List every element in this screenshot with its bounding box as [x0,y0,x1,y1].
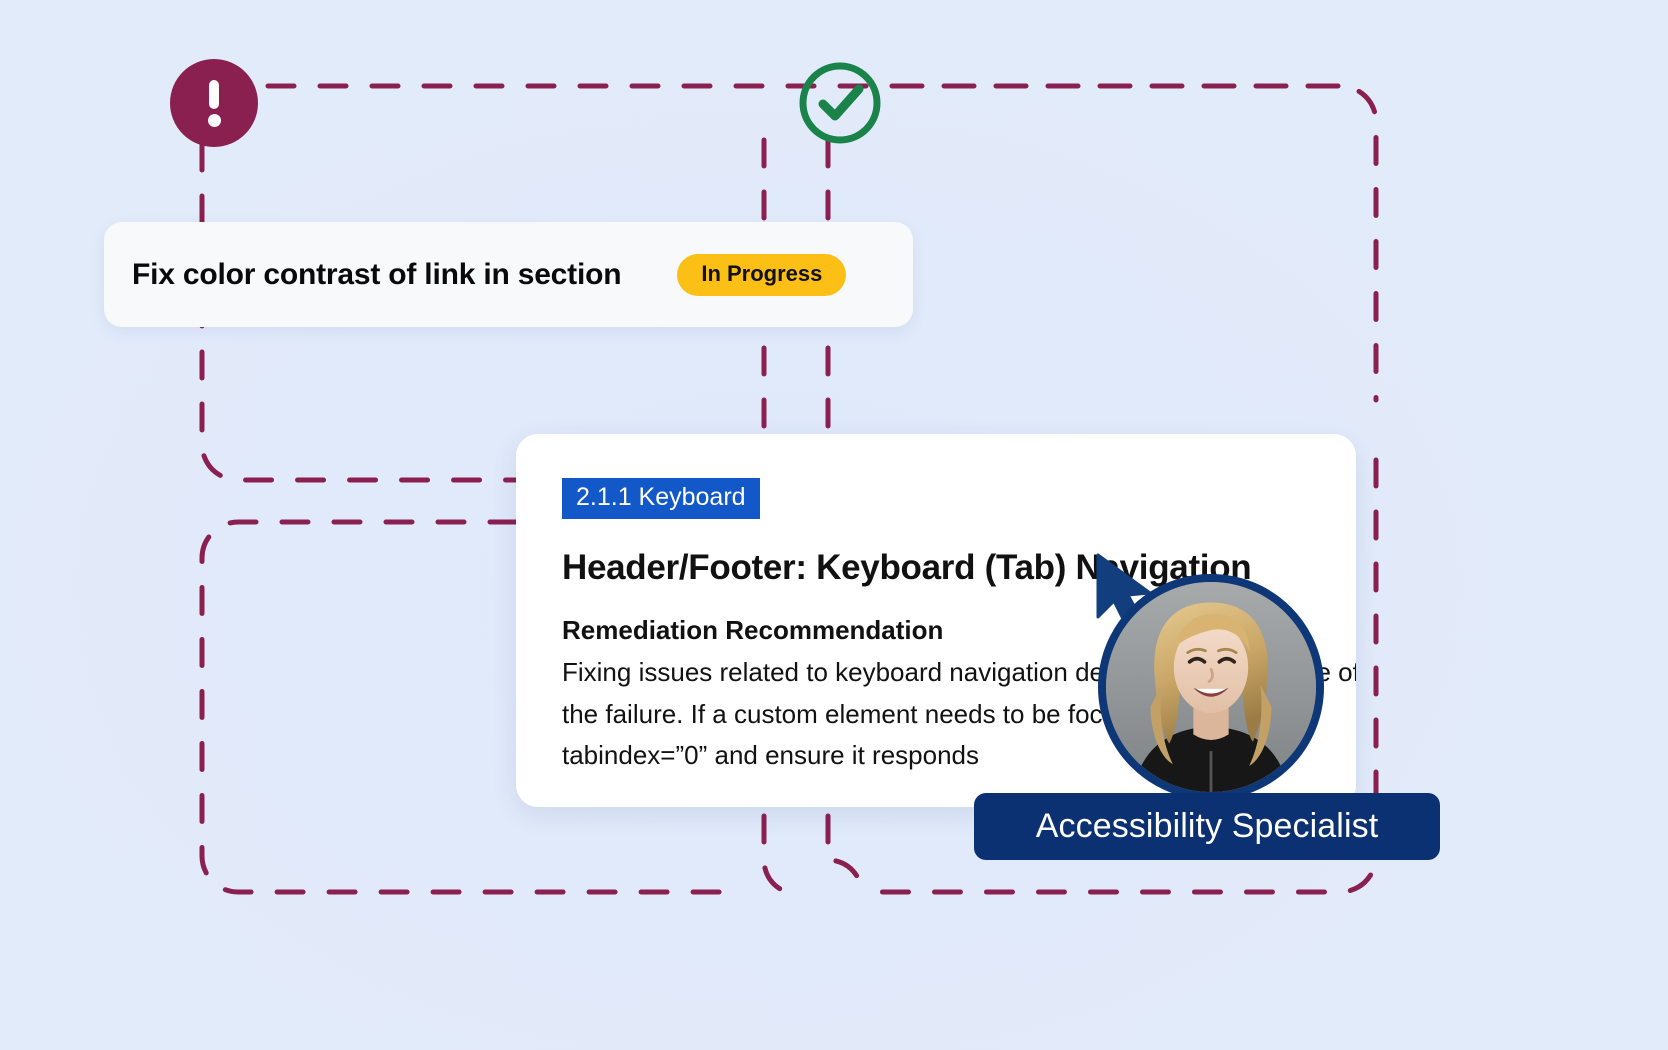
task-card[interactable]: Fix color contrast of link in section In… [104,222,913,327]
canvas: Fix color contrast of link in section In… [0,0,1668,1050]
status-badge[interactable]: In Progress [677,254,846,296]
exclamation-stem [209,80,219,109]
task-title: Fix color contrast of link in section [132,258,621,292]
avatar[interactable] [1098,574,1324,800]
alert-exclamation-icon [170,59,258,147]
exclamation-dot [208,114,221,127]
role-badge: Accessibility Specialist [974,793,1440,860]
role-badge-label: Accessibility Specialist [1036,807,1379,846]
check-circle-icon [796,59,884,147]
criterion-tag: 2.1.1 Keyboard [562,478,760,519]
